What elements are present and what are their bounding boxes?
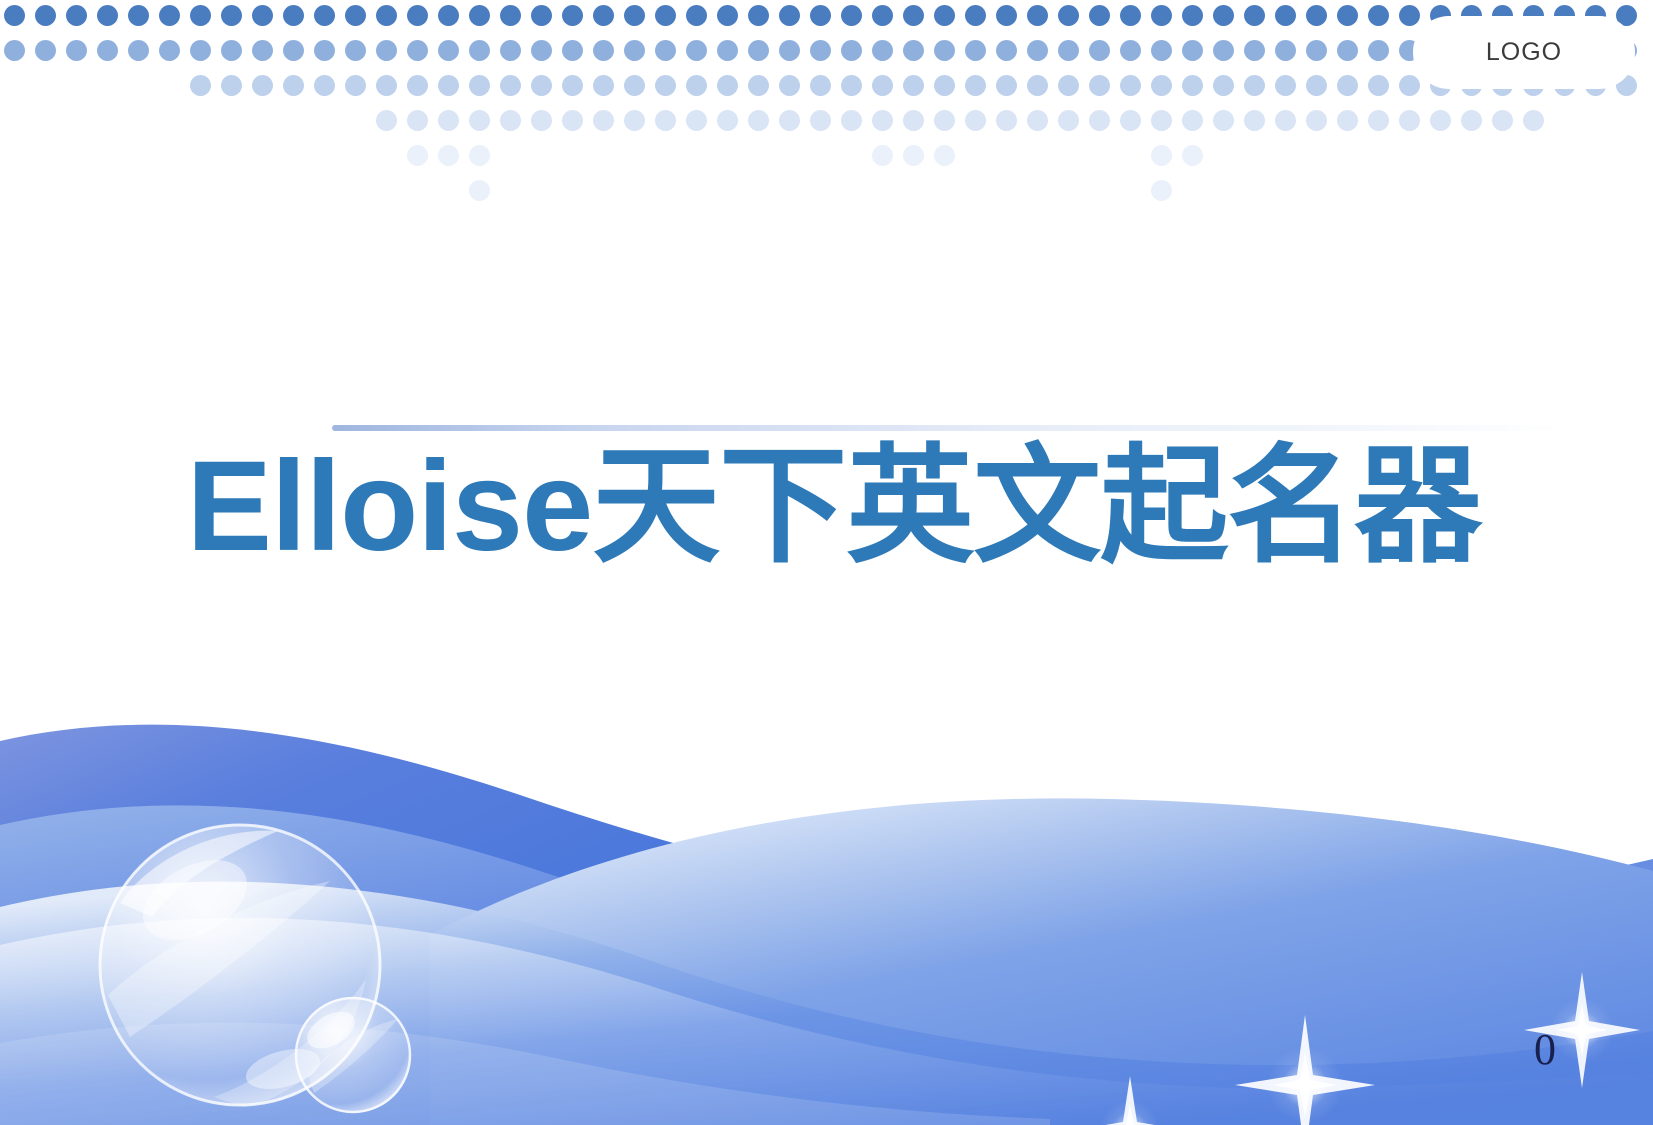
dot	[128, 40, 149, 61]
dot	[1089, 5, 1110, 26]
dot	[1058, 110, 1079, 131]
dot	[97, 5, 118, 26]
dot	[407, 5, 428, 26]
dot	[1182, 110, 1203, 131]
dot	[1120, 40, 1141, 61]
dot	[996, 5, 1017, 26]
dot	[810, 110, 831, 131]
dot	[686, 110, 707, 131]
dot	[562, 110, 583, 131]
dot	[1306, 5, 1327, 26]
dot	[934, 5, 955, 26]
dot	[872, 75, 893, 96]
dot	[314, 40, 335, 61]
dot	[1368, 5, 1389, 26]
dot	[531, 40, 552, 61]
dot	[748, 75, 769, 96]
dot	[655, 5, 676, 26]
dot	[872, 110, 893, 131]
dot	[1182, 5, 1203, 26]
dot	[438, 40, 459, 61]
dot	[1275, 40, 1296, 61]
dot	[1089, 110, 1110, 131]
dot	[934, 75, 955, 96]
dot	[872, 5, 893, 26]
dot	[1275, 5, 1296, 26]
dot	[1399, 5, 1420, 26]
presentation-slide: LOGO Elloise天下英文起名器	[0, 0, 1653, 1125]
dot	[593, 40, 614, 61]
dot	[841, 75, 862, 96]
page-title: Elloise天下英文起名器	[74, 432, 1594, 582]
dot	[1089, 40, 1110, 61]
dot	[1306, 75, 1327, 96]
dot	[438, 110, 459, 131]
dot	[903, 5, 924, 26]
dot	[934, 110, 955, 131]
dot	[35, 40, 56, 61]
slide-number: 0	[1534, 1028, 1556, 1072]
dot	[1368, 110, 1389, 131]
dot	[500, 75, 521, 96]
dot	[779, 110, 800, 131]
dot	[1151, 75, 1172, 96]
dot	[4, 5, 25, 26]
dot	[717, 75, 738, 96]
dot	[1461, 110, 1482, 131]
dot	[159, 5, 180, 26]
dot	[1151, 145, 1172, 166]
dot	[376, 5, 397, 26]
dot	[1244, 110, 1265, 131]
dot	[779, 75, 800, 96]
dot	[1213, 75, 1234, 96]
dot	[314, 75, 335, 96]
dot	[655, 40, 676, 61]
dot	[624, 75, 645, 96]
dot	[1244, 75, 1265, 96]
dot	[1399, 110, 1420, 131]
dot	[1492, 110, 1513, 131]
dot	[1120, 5, 1141, 26]
dot	[1182, 145, 1203, 166]
dot	[283, 5, 304, 26]
dot	[686, 40, 707, 61]
dot	[872, 145, 893, 166]
dot	[252, 40, 273, 61]
dot	[1058, 75, 1079, 96]
logo-placeholder[interactable]: LOGO	[1413, 16, 1635, 89]
dot	[1213, 110, 1234, 131]
dot	[531, 5, 552, 26]
dot	[748, 5, 769, 26]
dot	[686, 5, 707, 26]
dot	[562, 5, 583, 26]
dot	[562, 40, 583, 61]
dot	[1182, 75, 1203, 96]
dot	[469, 40, 490, 61]
dot	[345, 5, 366, 26]
dot	[190, 40, 211, 61]
dot	[469, 145, 490, 166]
dot	[841, 40, 862, 61]
dot	[376, 110, 397, 131]
dot	[965, 110, 986, 131]
dot	[345, 40, 366, 61]
dot	[1523, 110, 1544, 131]
dot	[593, 75, 614, 96]
dot	[1337, 110, 1358, 131]
dot	[1337, 75, 1358, 96]
dot	[407, 110, 428, 131]
dot	[438, 145, 459, 166]
dot	[1151, 40, 1172, 61]
dot	[593, 110, 614, 131]
dot	[934, 145, 955, 166]
dot	[66, 40, 87, 61]
bubble-small	[295, 997, 411, 1113]
dot	[128, 5, 149, 26]
dot	[717, 5, 738, 26]
dot	[1089, 75, 1110, 96]
dot	[66, 5, 87, 26]
dot	[872, 40, 893, 61]
dot	[717, 110, 738, 131]
dot	[469, 75, 490, 96]
dot	[1213, 40, 1234, 61]
dot	[996, 75, 1017, 96]
dot	[624, 40, 645, 61]
dot	[996, 40, 1017, 61]
dot	[500, 110, 521, 131]
dot	[1120, 75, 1141, 96]
dot	[35, 5, 56, 26]
dot	[1058, 40, 1079, 61]
dot	[531, 75, 552, 96]
dot	[376, 75, 397, 96]
logo-text: LOGO	[1486, 38, 1562, 67]
dot	[903, 40, 924, 61]
dot	[1368, 40, 1389, 61]
dot	[1213, 5, 1234, 26]
dot	[4, 40, 25, 61]
dot	[221, 40, 242, 61]
dot	[252, 75, 273, 96]
dot	[1368, 75, 1389, 96]
dot	[903, 75, 924, 96]
dot	[1244, 40, 1265, 61]
dot	[314, 5, 335, 26]
dot	[438, 75, 459, 96]
dot	[283, 75, 304, 96]
dot	[996, 110, 1017, 131]
dot	[965, 5, 986, 26]
dot	[1399, 75, 1420, 96]
dot	[1027, 5, 1048, 26]
dot	[407, 75, 428, 96]
dot	[748, 40, 769, 61]
dot	[1306, 40, 1327, 61]
dot	[655, 75, 676, 96]
title-divider-rule	[332, 425, 1564, 431]
dot	[1306, 110, 1327, 131]
dot	[1151, 180, 1172, 201]
dot	[1337, 5, 1358, 26]
dot	[779, 40, 800, 61]
dot	[1151, 5, 1172, 26]
dot	[531, 110, 552, 131]
dot	[469, 110, 490, 131]
dot	[190, 75, 211, 96]
dot	[810, 5, 831, 26]
dot	[221, 75, 242, 96]
dot	[686, 75, 707, 96]
dot	[469, 180, 490, 201]
dot	[1027, 40, 1048, 61]
dot	[810, 40, 831, 61]
dot	[97, 40, 118, 61]
dot	[1027, 75, 1048, 96]
dot	[1337, 40, 1358, 61]
dot	[624, 110, 645, 131]
dot	[779, 5, 800, 26]
dot	[283, 40, 304, 61]
dot	[624, 5, 645, 26]
dot	[438, 5, 459, 26]
dot	[345, 75, 366, 96]
dot	[965, 75, 986, 96]
dot	[159, 40, 180, 61]
dot	[562, 75, 583, 96]
dot	[190, 5, 211, 26]
wave-artwork	[0, 645, 1653, 1125]
dot	[934, 40, 955, 61]
dot	[1120, 110, 1141, 131]
dot	[469, 5, 490, 26]
dot	[810, 75, 831, 96]
dot	[407, 40, 428, 61]
dot	[965, 40, 986, 61]
dot	[1151, 110, 1172, 131]
dot	[407, 145, 428, 166]
dot	[1275, 75, 1296, 96]
dot-pattern-decoration	[0, 0, 1653, 200]
dot	[1058, 5, 1079, 26]
dot	[841, 5, 862, 26]
dot	[221, 5, 242, 26]
dot	[655, 110, 676, 131]
dot	[717, 40, 738, 61]
dot	[376, 40, 397, 61]
dot	[1182, 40, 1203, 61]
dot	[252, 5, 273, 26]
dot	[500, 5, 521, 26]
dot	[841, 110, 862, 131]
dot	[1244, 5, 1265, 26]
dot	[593, 5, 614, 26]
dot	[748, 110, 769, 131]
dot	[903, 145, 924, 166]
dot	[500, 40, 521, 61]
dot	[903, 110, 924, 131]
dot	[1430, 110, 1451, 131]
dot	[1275, 110, 1296, 131]
dot	[1027, 110, 1048, 131]
